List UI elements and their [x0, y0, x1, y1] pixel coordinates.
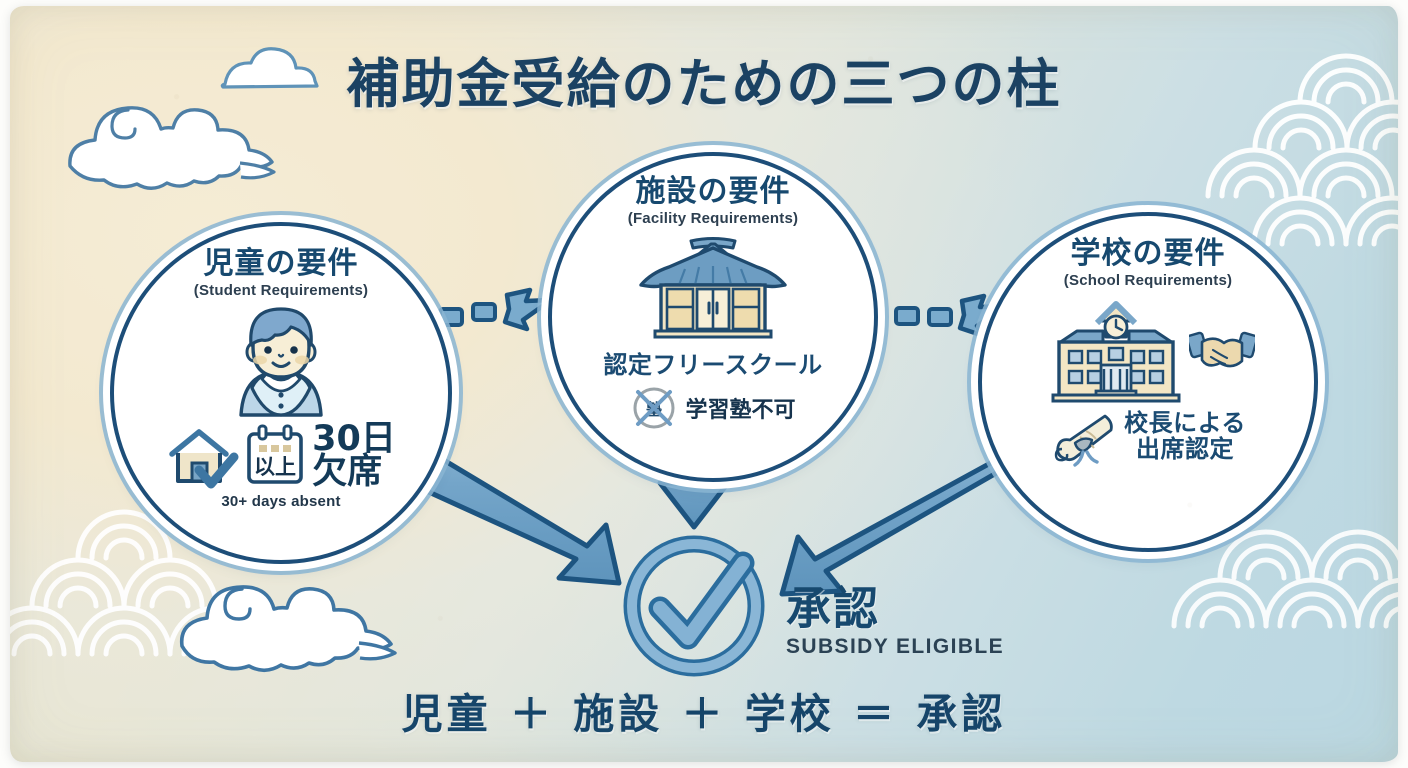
- result-label-en: SUBSIDY ELIGIBLE: [786, 635, 1004, 659]
- infographic-canvas: 補助金受給のための三つの柱: [0, 0, 1408, 768]
- paper-background: 補助金受給のための三つの柱: [10, 6, 1398, 762]
- check-circle-icon: [632, 544, 756, 668]
- summary-equation: 児童 ＋ 施設 ＋ 学校 ＝ 承認: [10, 680, 1398, 740]
- result-label-jp: 承認: [786, 572, 1004, 637]
- result-label-block: 承認 SUBSIDY ELIGIBLE: [786, 572, 1004, 659]
- result-icon-layer: [10, 6, 1398, 762]
